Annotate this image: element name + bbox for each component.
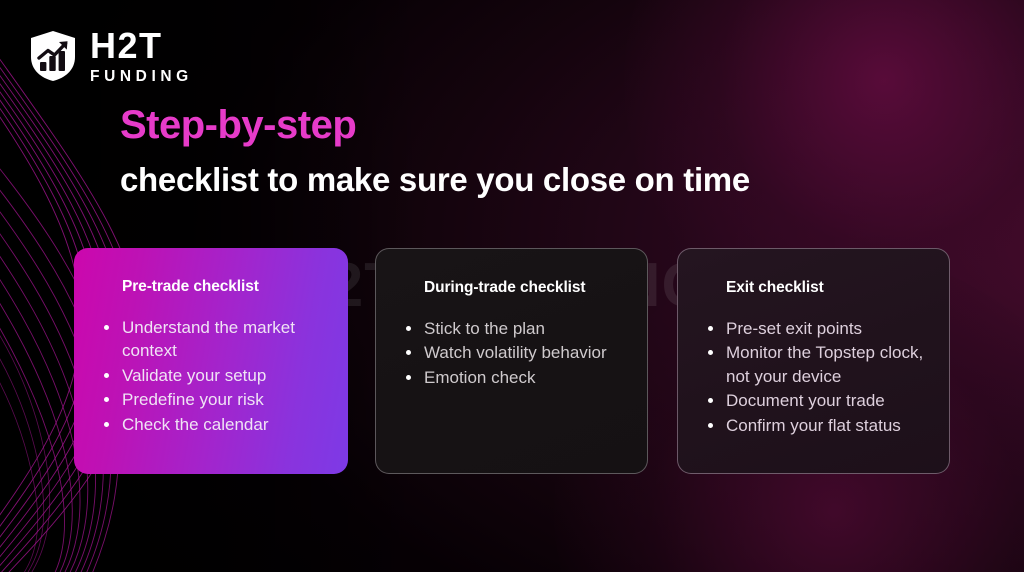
checklist-card-exit: Exit checklist Pre-set exit points Monit… <box>677 248 950 474</box>
list-item-label: Stick to the plan <box>424 319 545 338</box>
list-item: Monitor the Topstep clock, not your devi… <box>702 341 929 388</box>
list-item-label: Check the calendar <box>122 415 268 434</box>
card-item-list: Pre-set exit points Monitor the Topstep … <box>702 317 929 437</box>
checklist-card-pre-trade: Pre-trade checklist Understand the marke… <box>74 248 348 474</box>
list-item-label: Understand the market context <box>122 318 295 360</box>
list-item: Predefine your risk <box>98 388 328 411</box>
list-item-label: Confirm your flat status <box>726 416 901 435</box>
list-item: Check the calendar <box>98 413 328 436</box>
list-item-label: Emotion check <box>424 368 536 387</box>
bullet-icon <box>104 422 109 427</box>
list-item: Confirm your flat status <box>702 414 929 437</box>
list-item: Stick to the plan <box>400 317 627 340</box>
list-item-label: Predefine your risk <box>122 390 264 409</box>
bullet-icon <box>708 398 713 403</box>
list-item-label: Validate your setup <box>122 366 266 385</box>
list-item-label: Monitor the Topstep clock, not your devi… <box>726 343 923 385</box>
bullet-icon <box>406 326 411 331</box>
bullet-icon <box>406 375 411 380</box>
shield-chart-icon <box>28 30 78 82</box>
card-item-list: Understand the market context Validate y… <box>98 316 328 436</box>
checklist-card-during-trade: During-trade checklist Stick to the plan… <box>375 248 648 474</box>
list-item: Watch volatility behavior <box>400 341 627 364</box>
list-item: Pre-set exit points <box>702 317 929 340</box>
list-item: Document your trade <box>702 389 929 412</box>
card-title: During-trade checklist <box>400 279 627 297</box>
brand-logo: H2T FUNDING <box>28 28 193 85</box>
card-item-list: Stick to the plan Watch volatility behav… <box>400 317 627 389</box>
list-item: Emotion check <box>400 366 627 389</box>
list-item-label: Pre-set exit points <box>726 319 862 338</box>
bullet-icon <box>104 373 109 378</box>
slide-canvas: H2T FUNDING Step-by-step checklist to ma… <box>0 0 1024 572</box>
bullet-icon <box>406 350 411 355</box>
bullet-icon <box>104 325 109 330</box>
bullet-icon <box>708 326 713 331</box>
bullet-icon <box>708 350 713 355</box>
bullet-icon <box>708 423 713 428</box>
list-item-label: Document your trade <box>726 391 885 410</box>
headline-body-line: checklist to make sure you close on time <box>120 162 750 198</box>
page-title: Step-by-step checklist to make sure you … <box>120 104 750 198</box>
bullet-icon <box>104 397 109 402</box>
card-title: Exit checklist <box>702 279 929 297</box>
logo-primary-text: H2T <box>90 28 193 64</box>
card-title: Pre-trade checklist <box>98 278 328 296</box>
logo-secondary-text: FUNDING <box>90 69 193 85</box>
list-item-label: Watch volatility behavior <box>424 343 607 362</box>
checklist-card-group: Pre-trade checklist Understand the marke… <box>0 248 1024 476</box>
headline-accent-line: Step-by-step <box>120 104 750 146</box>
list-item: Understand the market context <box>98 316 328 363</box>
list-item: Validate your setup <box>98 364 328 387</box>
